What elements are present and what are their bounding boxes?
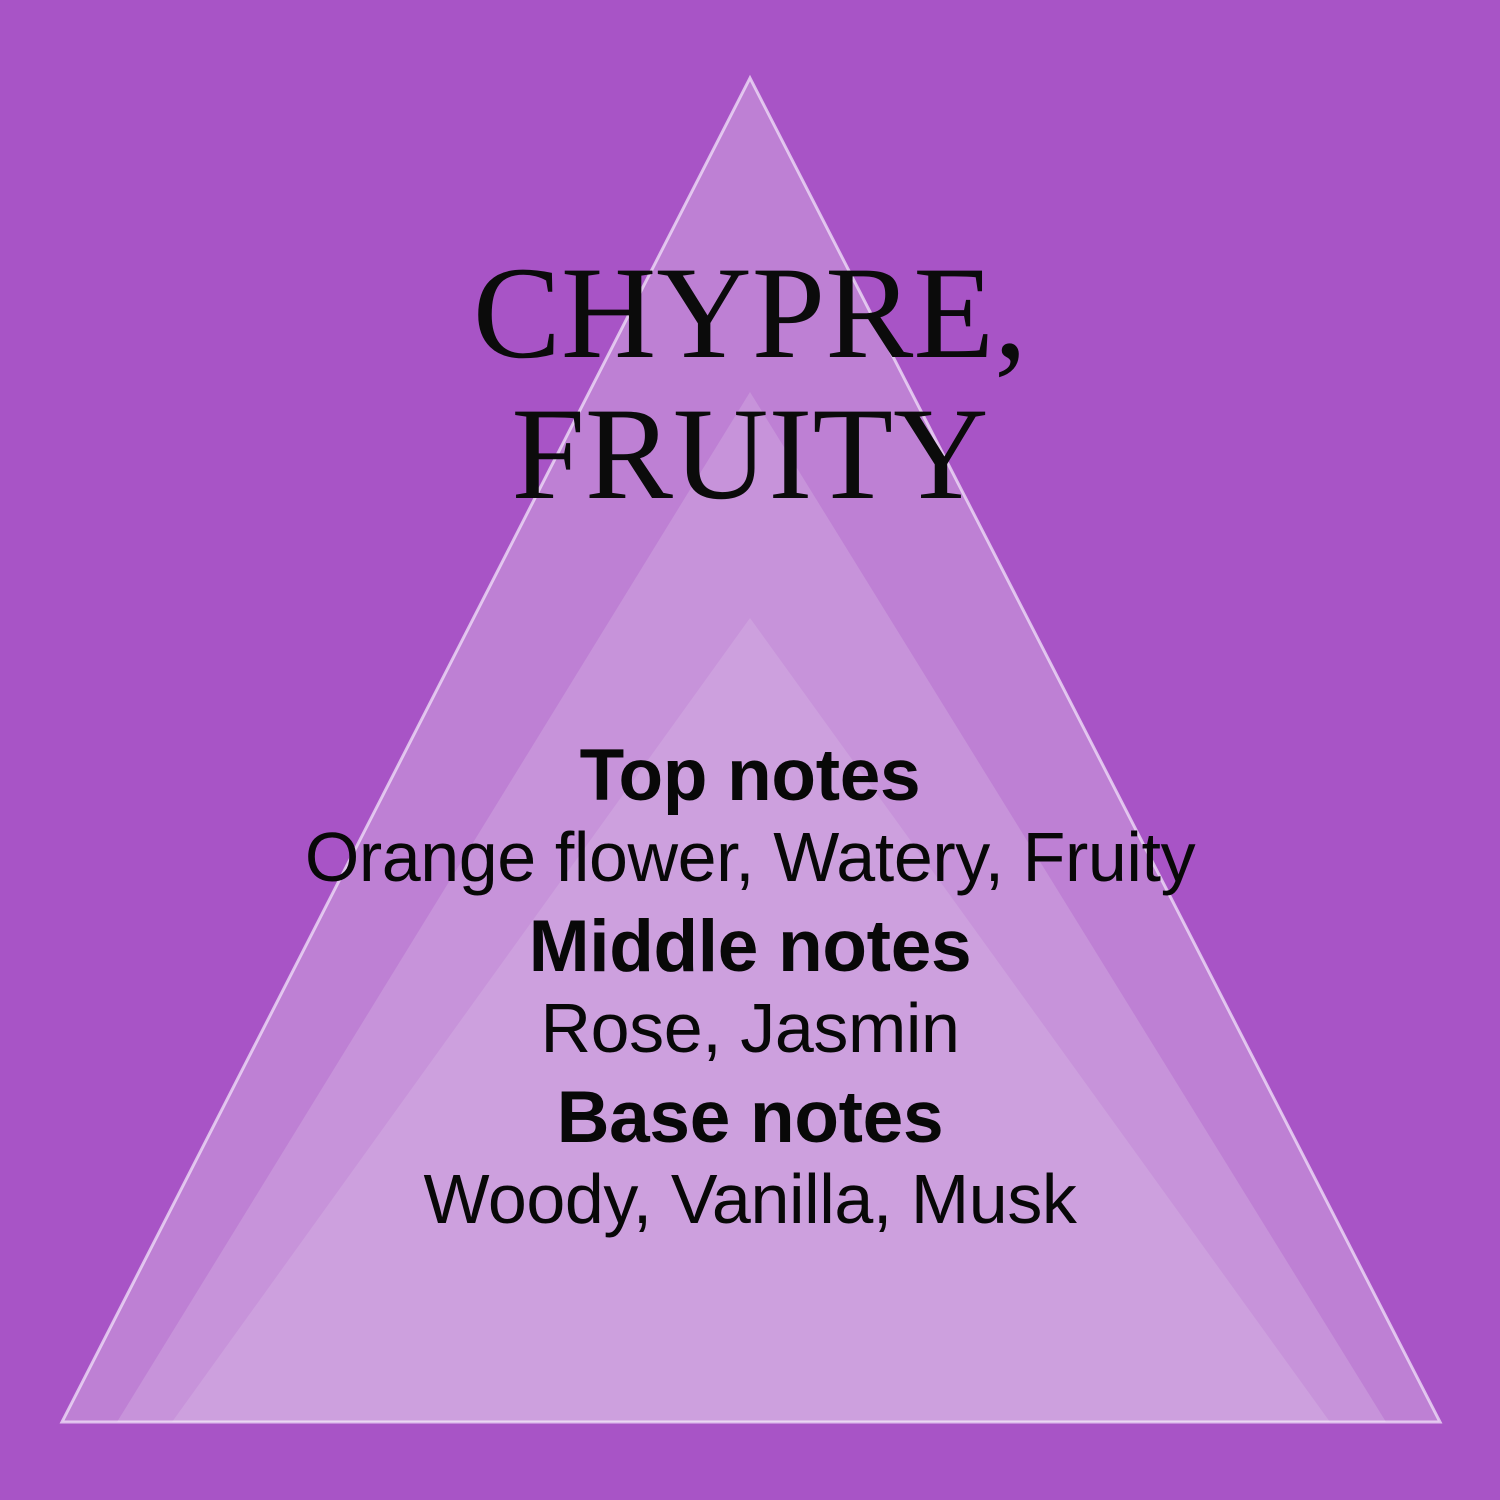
note-heading-middle: Middle notes (0, 907, 1500, 987)
note-heading-base: Base notes (0, 1078, 1500, 1158)
note-group-base: Base notes Woody, Vanilla, Musk (0, 1078, 1500, 1241)
note-values-base: Woody, Vanilla, Musk (0, 1158, 1500, 1241)
note-group-middle: Middle notes Rose, Jasmin (0, 907, 1500, 1070)
fragrance-notes-list: Top notes Orange flower, Watery, Fruity … (0, 736, 1500, 1241)
note-values-top: Orange flower, Watery, Fruity (0, 816, 1500, 899)
note-group-top: Top notes Orange flower, Watery, Fruity (0, 736, 1500, 899)
fragrance-pyramid-poster: CHYPRE, FRUITY Top notes Orange flower, … (0, 0, 1500, 1500)
note-heading-top: Top notes (0, 736, 1500, 816)
note-values-middle: Rose, Jasmin (0, 987, 1500, 1070)
